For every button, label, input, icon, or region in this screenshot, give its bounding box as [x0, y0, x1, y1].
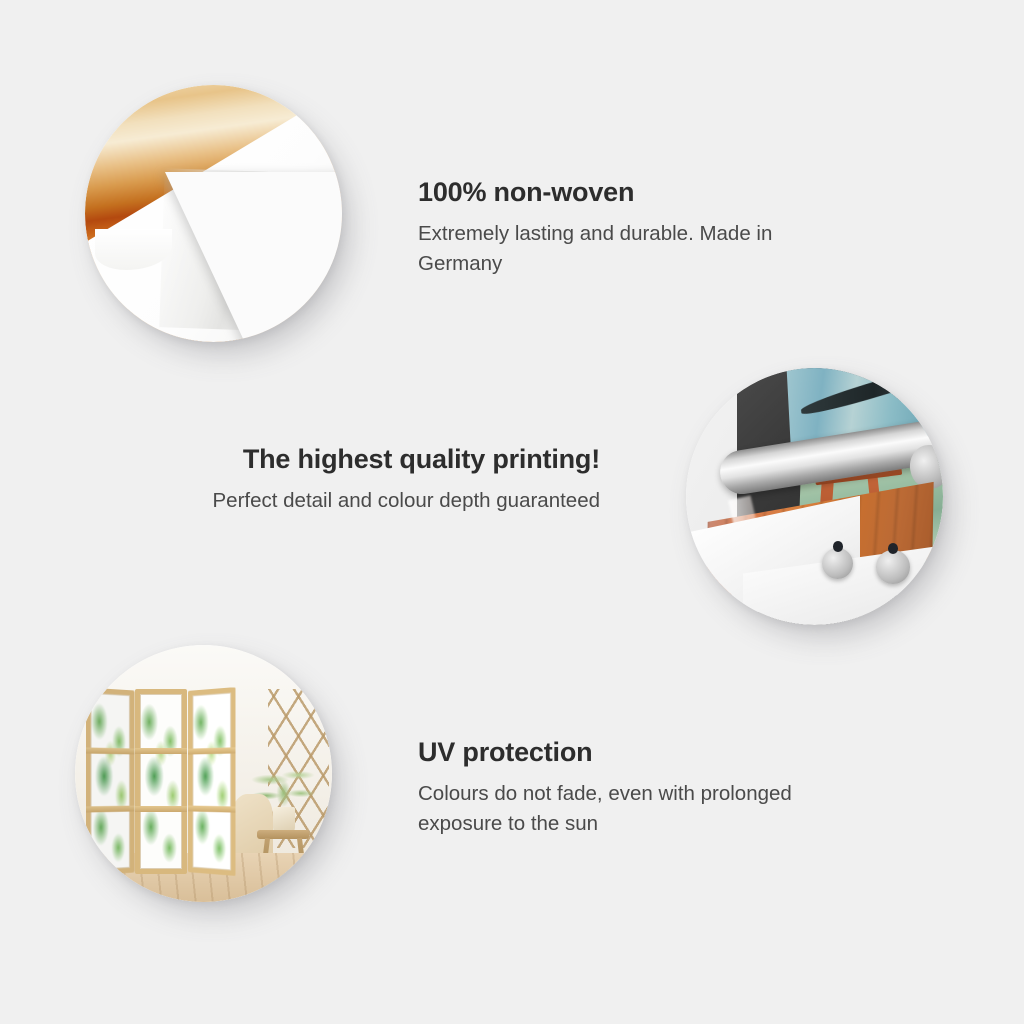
- wallpaper-peeled-flap: [165, 172, 342, 342]
- divider-panel-right: [188, 687, 236, 876]
- plant-pot: [273, 807, 295, 833]
- divider-panel-center: [135, 689, 188, 874]
- uv-protection-headline: UV protection: [418, 736, 838, 768]
- non-woven-headline: 100% non-woven: [418, 176, 848, 208]
- printing-description: Perfect detail and colour depth guarante…: [170, 486, 600, 516]
- press-adjust-knob-right: [876, 550, 909, 583]
- uv-protection-text-block: UV protection Colours do not fade, even …: [418, 736, 838, 839]
- peeling-wallpaper-illustration: [85, 85, 342, 342]
- printing-text-block: The highest quality printing! Perfect de…: [170, 443, 600, 516]
- press-adjust-knob-left: [822, 548, 853, 579]
- non-woven-text-block: 100% non-woven Extremely lasting and dur…: [418, 176, 848, 279]
- non-woven-image-badge: [85, 85, 342, 342]
- tropical-room-divider-illustration: [75, 645, 332, 902]
- uv-protection-image-badge: [75, 645, 332, 902]
- printing-headline: The highest quality printing!: [170, 443, 600, 475]
- divider-panel-left: [86, 687, 135, 875]
- uv-protection-description: Colours do not fade, even with prolonged…: [418, 779, 838, 838]
- infographic-canvas: 100% non-woven Extremely lasting and dur…: [0, 0, 1024, 1024]
- printing-press-illustration: [686, 368, 943, 625]
- folding-room-divider: [85, 689, 244, 874]
- non-woven-description: Extremely lasting and durable. Made in G…: [418, 219, 848, 278]
- printing-image-badge: [686, 368, 943, 625]
